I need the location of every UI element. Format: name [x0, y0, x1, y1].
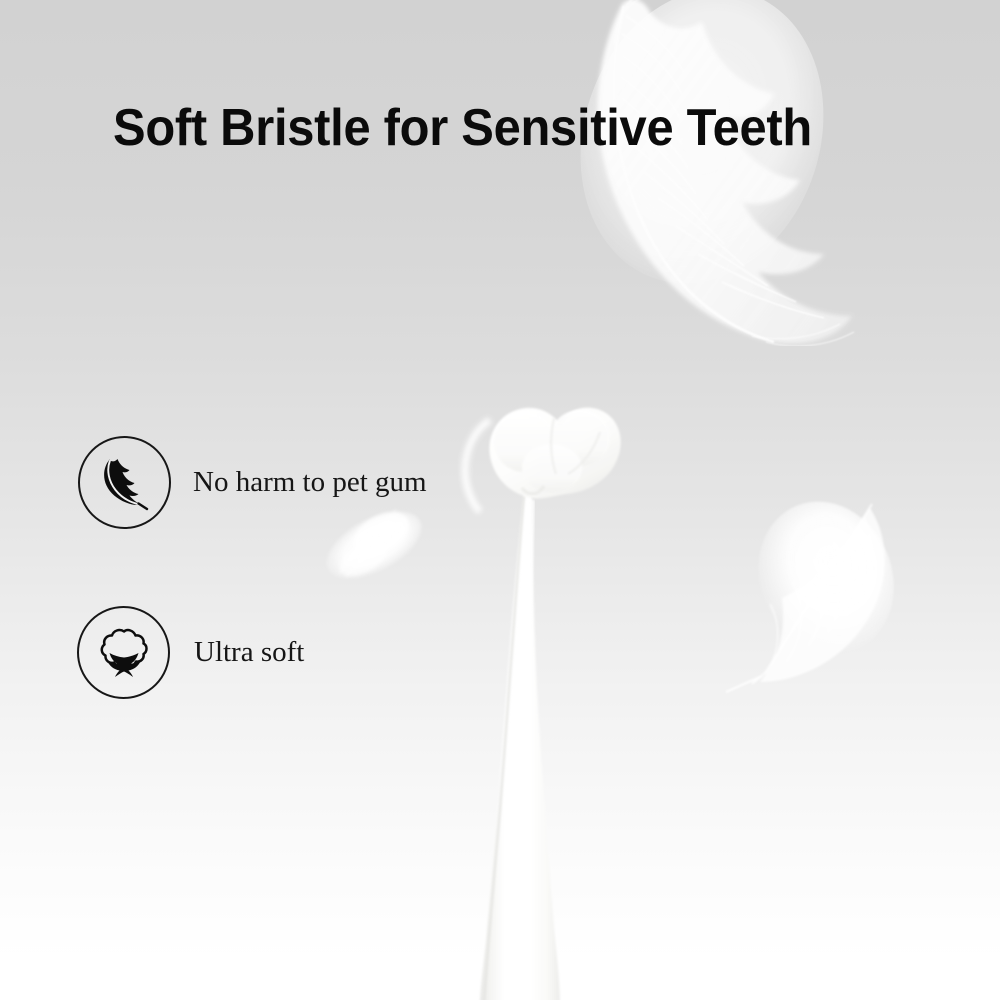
feature-label: Ultra soft: [194, 638, 304, 667]
feature-label: No harm to pet gum: [193, 468, 427, 497]
feature-item-ultra-soft: Ultra soft: [77, 606, 304, 699]
floating-down-feather-right: [722, 486, 904, 694]
feature-badge: [77, 606, 170, 699]
pet-toothbrush-graphic: [428, 380, 648, 1000]
feature-item-no-harm-to-pet-gum: No harm to pet gum: [78, 436, 427, 529]
page-title: Soft Bristle for Sensitive Teeth: [113, 99, 856, 157]
feather-icon: [96, 454, 154, 512]
hero-feather-graphic: [552, 0, 882, 346]
cotton-boll-icon: [95, 624, 153, 682]
feature-badge: [78, 436, 171, 529]
product-feature-banner: Soft Bristle for Sensitive Teeth No harm…: [0, 0, 1000, 1000]
